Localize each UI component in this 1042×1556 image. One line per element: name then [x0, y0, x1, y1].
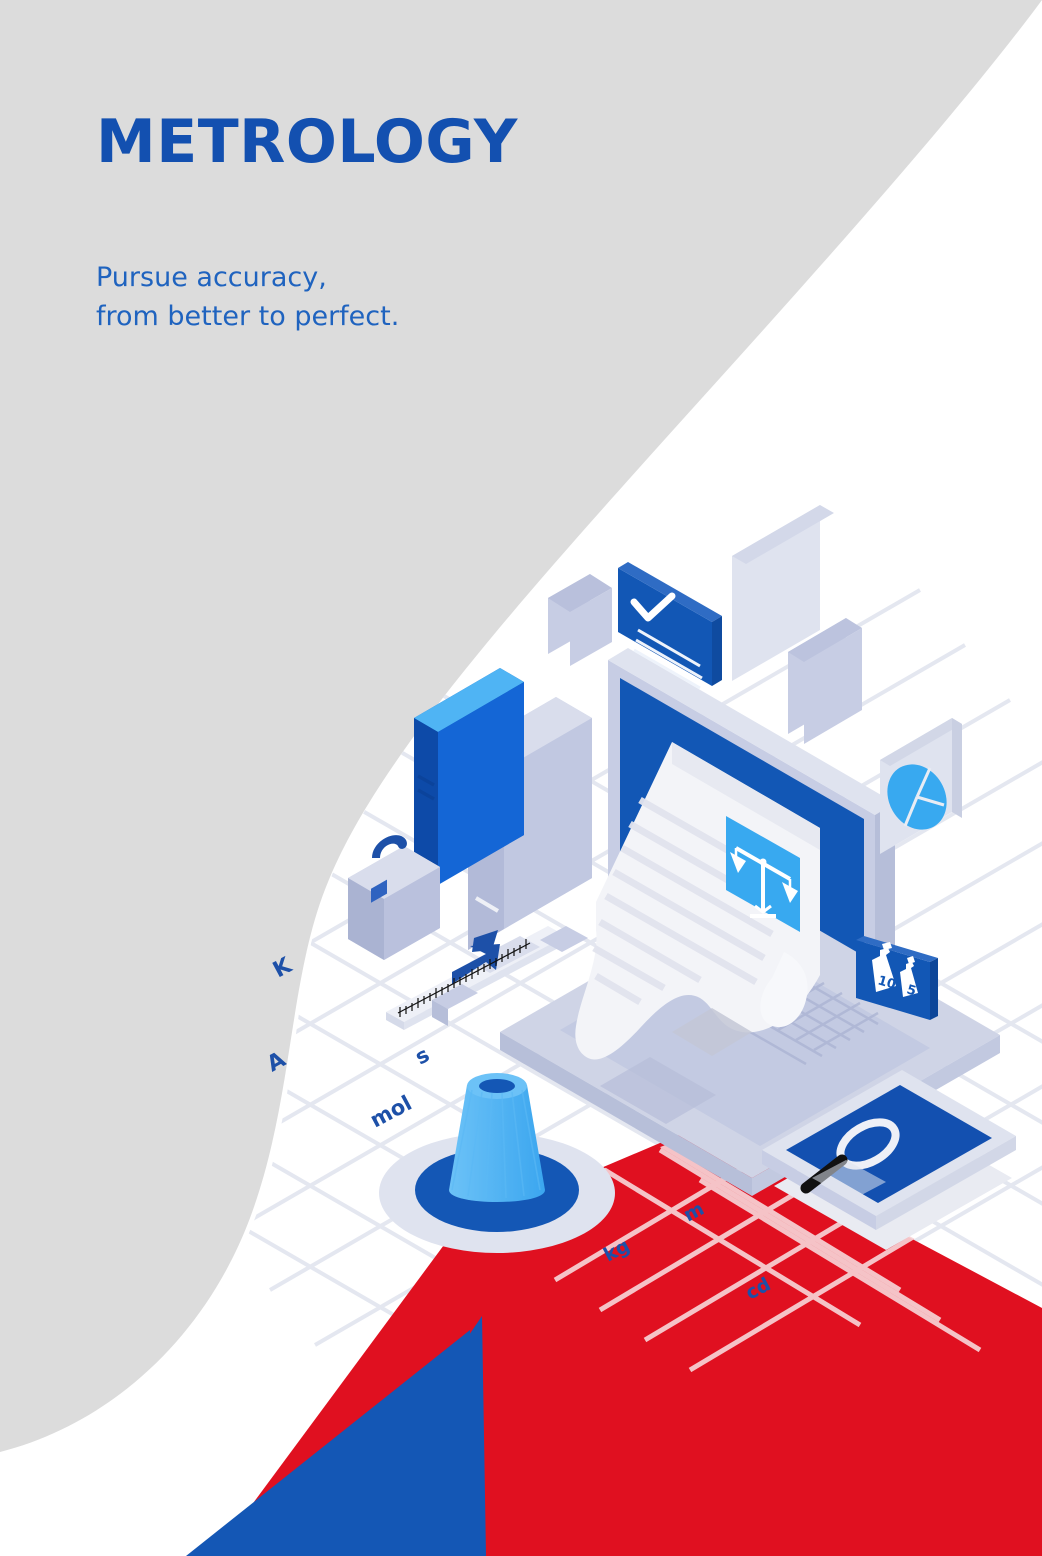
poster-root: K A s mol m kg cd — [0, 0, 1042, 1556]
poster-artwork: K A s mol m kg cd — [0, 0, 1042, 1556]
